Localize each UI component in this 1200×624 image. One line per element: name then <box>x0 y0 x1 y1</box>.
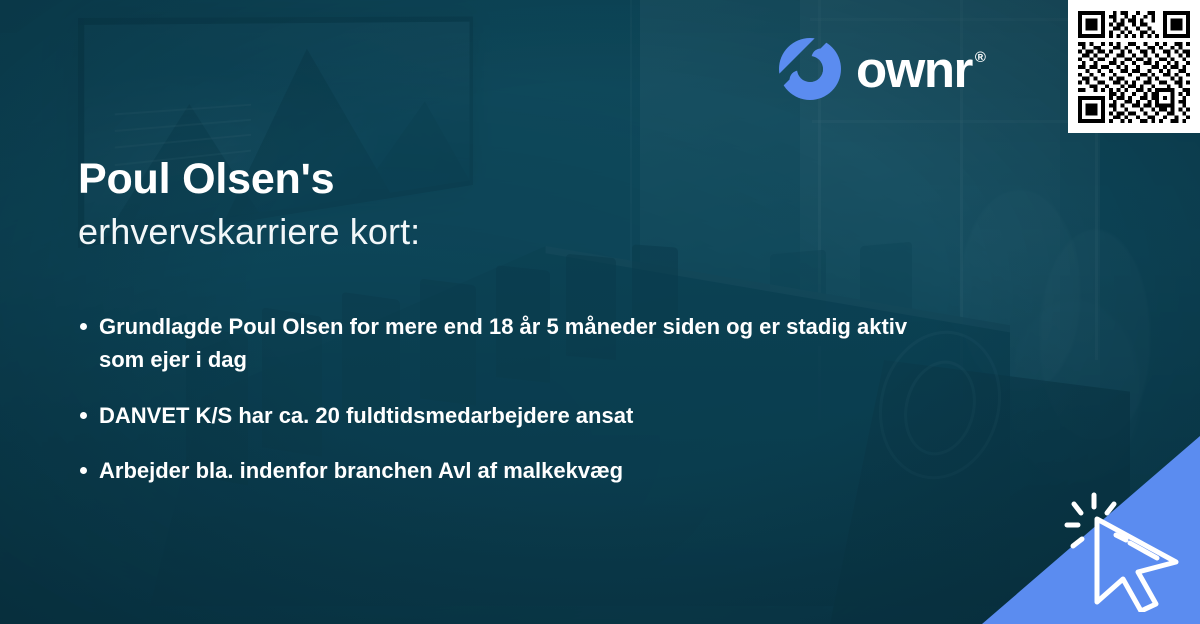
ownr-logo[interactable]: ownr ® <box>778 36 984 102</box>
list-item: DANVET K/S har ca. 20 fuldtidsmedarbejde… <box>80 399 910 432</box>
qr-code[interactable] <box>1078 11 1190 123</box>
list-item: Arbejder bla. indenfor branchen Avl af m… <box>80 454 910 487</box>
list-item-label: DANVET K/S har ca. 20 fuldtidsmedarbejde… <box>99 399 910 432</box>
ownr-wordmark-text: ownr <box>856 44 972 95</box>
qr-code-panel[interactable] <box>1068 0 1200 133</box>
registered-trademark-icon: ® <box>975 50 985 65</box>
headline-block: Poul Olsen's erhvervskarriere kort: <box>78 158 798 251</box>
list-item-label: Grundlagde Poul Olsen for mere end 18 år… <box>99 310 910 377</box>
bullet-dot-icon <box>80 412 87 419</box>
list-item: Grundlagde Poul Olsen for mere end 18 år… <box>80 310 910 377</box>
ownr-wordmark: ownr ® <box>856 44 984 95</box>
click-cursor-icon <box>1064 488 1184 612</box>
ownr-business-card: ownr ® Poul Olsen's erhvervskarriere kor… <box>0 0 1200 624</box>
fact-list: Grundlagde Poul Olsen for mere end 18 år… <box>80 310 910 488</box>
page-title: Poul Olsen's <box>78 158 798 201</box>
bullet-dot-icon <box>80 323 87 330</box>
bullet-dot-icon <box>80 467 87 474</box>
ownr-circle-logo-icon <box>778 37 842 101</box>
page-subtitle: erhvervskarriere kort: <box>78 213 798 251</box>
list-item-label: Arbejder bla. indenfor branchen Avl af m… <box>99 454 910 487</box>
